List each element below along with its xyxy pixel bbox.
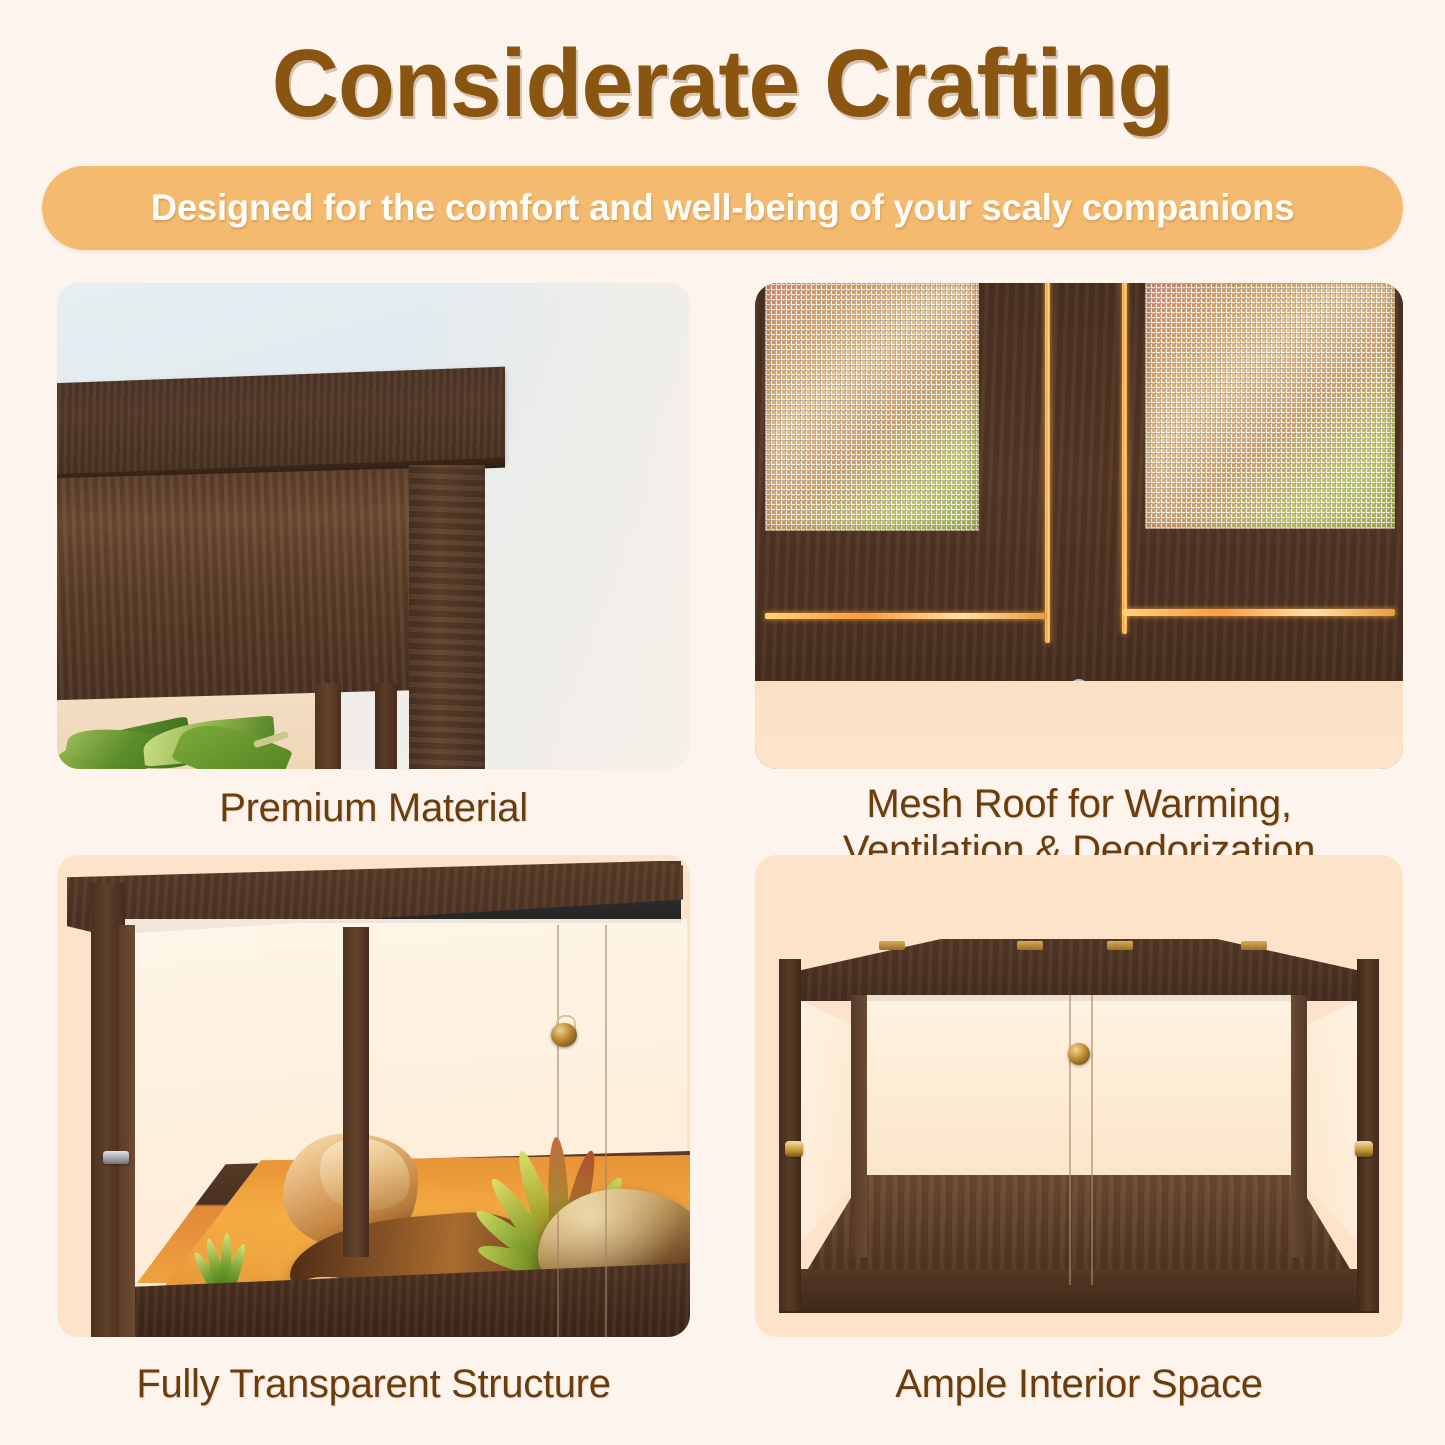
feature-photo-transparent-structure <box>57 855 690 1337</box>
roof-tab <box>1107 941 1133 950</box>
page-title: Considerate Crafting <box>22 28 1424 140</box>
front-bottom-rail <box>779 1269 1379 1313</box>
feature-card-ample-interior-space <box>755 855 1403 1337</box>
left-inner-post <box>851 995 867 1257</box>
feature-photo-mesh-roof <box>755 283 1403 769</box>
glass-door-edge[interactable] <box>605 925 607 1337</box>
door-lock-icon[interactable] <box>1068 1043 1090 1065</box>
mesh-edge-glow <box>1123 609 1395 616</box>
side-panel-knob[interactable] <box>1355 1141 1373 1157</box>
wood-front-board <box>57 468 431 701</box>
door-hinge <box>103 1151 129 1164</box>
roof-tab <box>1017 941 1043 950</box>
mesh-edge-glow <box>1122 283 1127 634</box>
mesh-edge-glow <box>765 613 1047 619</box>
feature-caption-transparent-structure: Fully Transparent Structure <box>57 1361 690 1407</box>
glass-door-edge[interactable] <box>1091 995 1093 1285</box>
infographic-page: Considerate Crafting Designed for the co… <box>0 0 1445 1445</box>
feature-card-transparent-structure <box>57 855 690 1337</box>
wood-inner-post <box>315 683 341 769</box>
center-wood-post <box>343 927 369 1257</box>
subtitle-text: Designed for the comfort and well-being … <box>151 186 1295 230</box>
right-wood-post <box>1357 959 1379 1311</box>
roof-tab <box>1241 941 1267 950</box>
feature-photo-premium-material <box>57 283 690 769</box>
mesh-screen-left <box>765 283 979 531</box>
mesh-screen-right <box>1145 283 1395 529</box>
wood-inner-post-secondary <box>375 683 397 769</box>
roof-tab <box>879 941 905 950</box>
left-wood-post <box>779 959 801 1311</box>
side-panel-knob[interactable] <box>785 1141 803 1157</box>
glass-door-edge[interactable] <box>557 925 559 1337</box>
caption-line-1: Mesh Roof for Warming, <box>755 781 1403 827</box>
feature-card-premium-material <box>57 283 690 769</box>
feature-card-mesh-roof <box>755 283 1403 769</box>
subtitle-banner: Designed for the comfort and well-being … <box>42 166 1403 250</box>
wood-corner-post <box>409 465 485 769</box>
feature-caption-premium-material: Premium Material <box>57 785 690 831</box>
left-inner-post <box>119 925 135 1337</box>
lock-body <box>551 1023 577 1047</box>
door-lock-icon[interactable] <box>549 1015 579 1047</box>
front-glass-panel <box>863 995 1295 1179</box>
glass-door-edge[interactable] <box>1069 995 1071 1285</box>
feature-caption-ample-interior-space: Ample Interior Space <box>755 1361 1403 1407</box>
feature-photo-ample-interior-space <box>755 855 1403 1337</box>
right-inner-post <box>1291 995 1307 1257</box>
feature-grid: Premium Material Mesh Roof for Warming, … <box>0 283 1445 1443</box>
photo-bottom-band <box>755 681 1403 769</box>
mesh-edge-glow <box>1045 283 1050 643</box>
